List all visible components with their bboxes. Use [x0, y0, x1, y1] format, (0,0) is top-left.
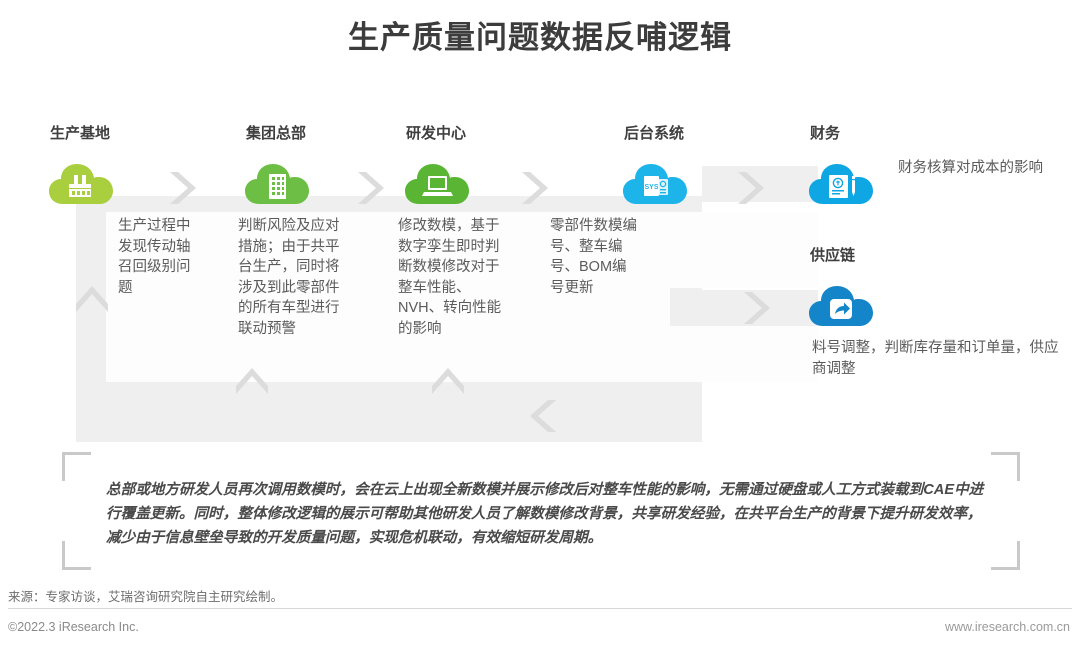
callout-corner-bottom-right	[991, 541, 1020, 570]
cloud-shape-group-headquarters	[244, 162, 310, 206]
node-label-production-base: 生产基地	[50, 122, 110, 143]
chevron-right-icon-5	[738, 288, 772, 328]
side-note-supply-chain: 料号调整，判断库存量和订单量，供应商调整	[812, 338, 1070, 380]
footer-divider	[8, 608, 1072, 609]
node-label-rnd-center: 研发中心	[406, 122, 466, 143]
cloud-shape-finance	[808, 162, 874, 206]
page-title: 生产质量问题数据反哺逻辑	[0, 12, 1080, 57]
node-label-backend-system: 后台系统	[624, 122, 684, 143]
share-arrow-icon	[830, 299, 852, 319]
callout-corner-top-right	[991, 452, 1020, 481]
callout-corner-top-left	[62, 452, 91, 481]
copyright-text: ©2022.3 iResearch Inc.	[8, 620, 139, 634]
node-backend-system[interactable]: 后台系统 SYS	[622, 122, 762, 222]
website-link[interactable]: www.iresearch.com.cn	[945, 620, 1070, 634]
chevron-up-icon-1	[72, 284, 112, 318]
column-text-production: 生产过程中发现传动轴召回级别问题	[118, 216, 196, 298]
chevron-up-icon-3	[428, 366, 468, 400]
callout-corner-bottom-left	[62, 541, 91, 570]
flow-inner-panel-right-lower	[670, 326, 818, 382]
source-note: 来源：专家访谈，艾瑞咨询研究院自主研究绘制。	[8, 586, 283, 605]
cloud-shape-production-base	[48, 162, 114, 206]
slide-canvas: 生产质量问题数据反哺逻辑 生产基地	[0, 0, 1080, 649]
column-text-backend: 零部件数模编号、整车编号、BOM编号更新	[550, 216, 638, 298]
node-group-headquarters[interactable]: 集团总部	[244, 122, 384, 222]
cloud-shape-backend-system: SYS	[622, 162, 688, 206]
column-text-headquarters: 判断风险及应对措施；由于共平台生产，同时将涉及到此零部件的所有车型进行联动预警	[238, 216, 346, 339]
office-building-icon	[269, 174, 286, 199]
column-text-rnd: 修改数模，基于数字孪生即时判断数模修改对于整车性能、NVH、转向性能的影响	[398, 216, 506, 339]
system-server-icon: SYS	[644, 176, 668, 196]
node-label-finance: 财务	[810, 122, 840, 143]
flow-inner-panel-right	[670, 212, 818, 288]
chevron-left-icon-1	[528, 396, 562, 436]
node-label-supply-chain: 供应链	[810, 244, 855, 265]
cloud-shape-supply-chain	[808, 284, 874, 328]
node-label-group-headquarters: 集团总部	[246, 122, 306, 143]
node-production-base[interactable]: 生产基地	[48, 122, 188, 222]
node-rnd-center[interactable]: 研发中心	[404, 122, 544, 222]
cloud-shape-rnd-center	[404, 162, 470, 206]
callout-text: 总部或地方研发人员再次调用数模时，会在云上出现全新数模并展示修改后对整车性能的影…	[106, 478, 986, 550]
callout-box: 总部或地方研发人员再次调用数模时，会在云上出现全新数模并展示修改后对整车性能的影…	[62, 452, 1020, 570]
chevron-up-icon-2	[232, 366, 272, 400]
svg-text:SYS: SYS	[644, 184, 658, 191]
node-supply-chain[interactable]: 供应链	[808, 244, 948, 344]
side-note-finance: 财务核算对成本的影响	[898, 158, 1074, 179]
